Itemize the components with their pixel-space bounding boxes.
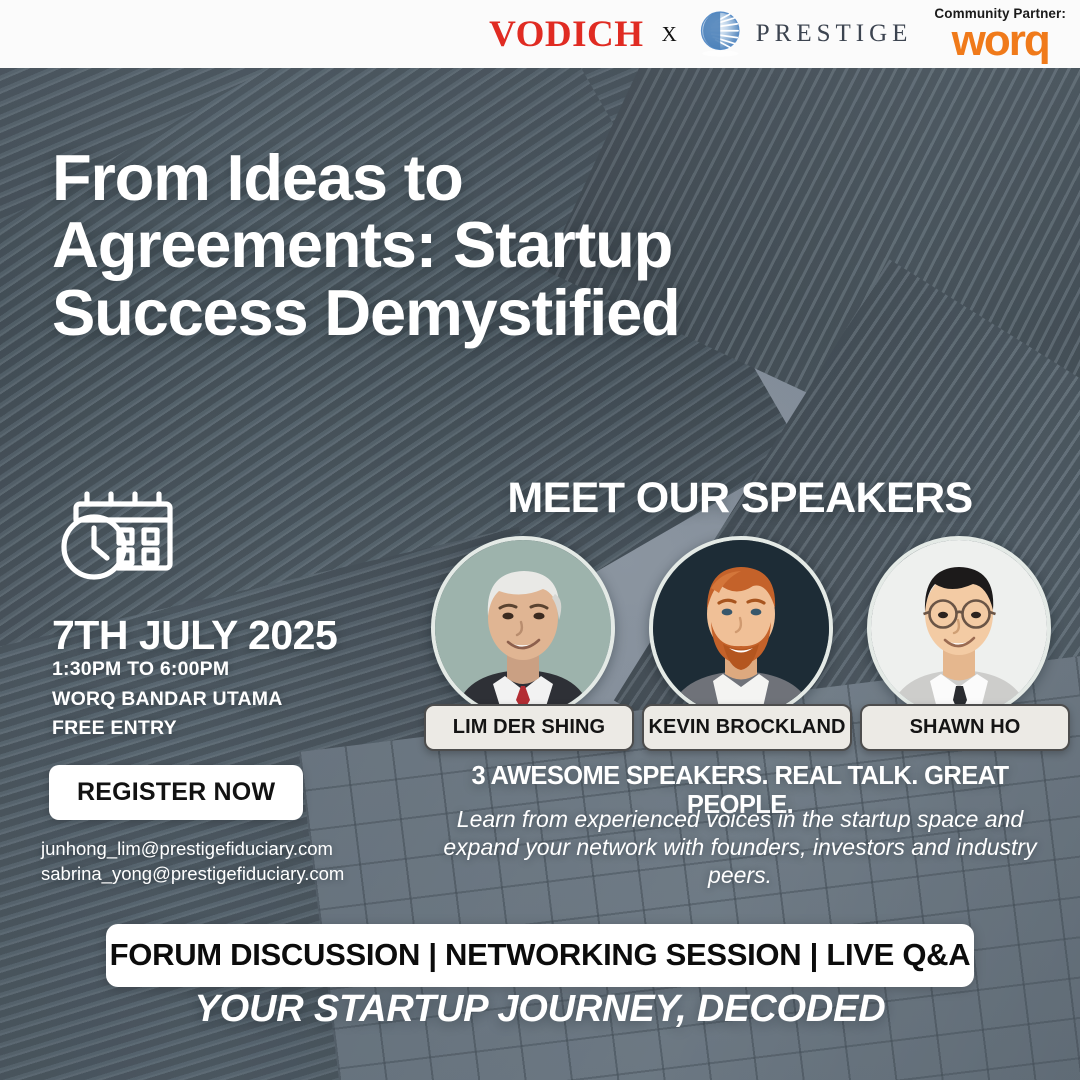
- event-venue: WORQ BANDAR UTAMA: [52, 685, 283, 715]
- event-poster: VODICH X: [0, 0, 1080, 1080]
- event-meta: 1:30PM TO 6:00PM WORQ BANDAR UTAMA FREE …: [52, 655, 283, 744]
- worq-logo: Community Partner: worq: [934, 6, 1066, 61]
- register-now-button[interactable]: REGISTER NOW: [49, 765, 303, 820]
- footer-tagline: YOUR STARTUP JOURNEY, DECODED: [0, 988, 1080, 1031]
- calendar-clock-icon: [56, 478, 180, 595]
- prestige-shell-icon: [695, 8, 747, 60]
- program-banner: FORUM DISCUSSION | NETWORKING SESSION | …: [106, 924, 974, 987]
- portrait-lim-der-shing: [431, 536, 615, 720]
- event-date: 7TH JULY 2025: [52, 612, 337, 659]
- contact-emails: junhong_lim@prestigefiduciary.com sabrin…: [41, 836, 344, 886]
- speaker-nameplate: LIM DER SHING: [424, 704, 634, 751]
- event-entry: FREE ENTRY: [52, 714, 283, 744]
- speakers-heading: MEET OUR SPEAKERS: [430, 474, 1050, 523]
- portrait-kevin-brockland: [649, 536, 833, 720]
- worq-wordmark: worq: [952, 21, 1049, 61]
- speakers-list: LIM DER SHING: [424, 536, 1058, 751]
- speaker-card: LIM DER SHING: [424, 536, 622, 751]
- contact-email[interactable]: junhong_lim@prestigefiduciary.com: [41, 836, 344, 861]
- event-time: 1:30PM TO 6:00PM: [52, 655, 283, 685]
- speaker-nameplate: SHAWN HO: [860, 704, 1070, 751]
- speaker-nameplate: KEVIN BROCKLAND: [642, 704, 852, 751]
- vodich-logo: VODICH: [489, 16, 643, 53]
- speakers-subtext: Learn from experienced voices in the sta…: [438, 805, 1042, 889]
- speaker-card: KEVIN BROCKLAND: [642, 536, 840, 751]
- contact-email[interactable]: sabrina_yong@prestigefiduciary.com: [41, 861, 344, 886]
- collab-x-icon: X: [660, 22, 679, 47]
- speaker-card: SHAWN HO: [860, 536, 1058, 751]
- prestige-wordmark: PRESTIGE: [756, 20, 913, 48]
- prestige-logo: PRESTIGE: [695, 8, 913, 60]
- partner-logo-bar: VODICH X: [0, 0, 1080, 68]
- portrait-shawn-ho: [867, 536, 1051, 720]
- page-title: From Ideas to Agreements: Startup Succes…: [52, 144, 692, 347]
